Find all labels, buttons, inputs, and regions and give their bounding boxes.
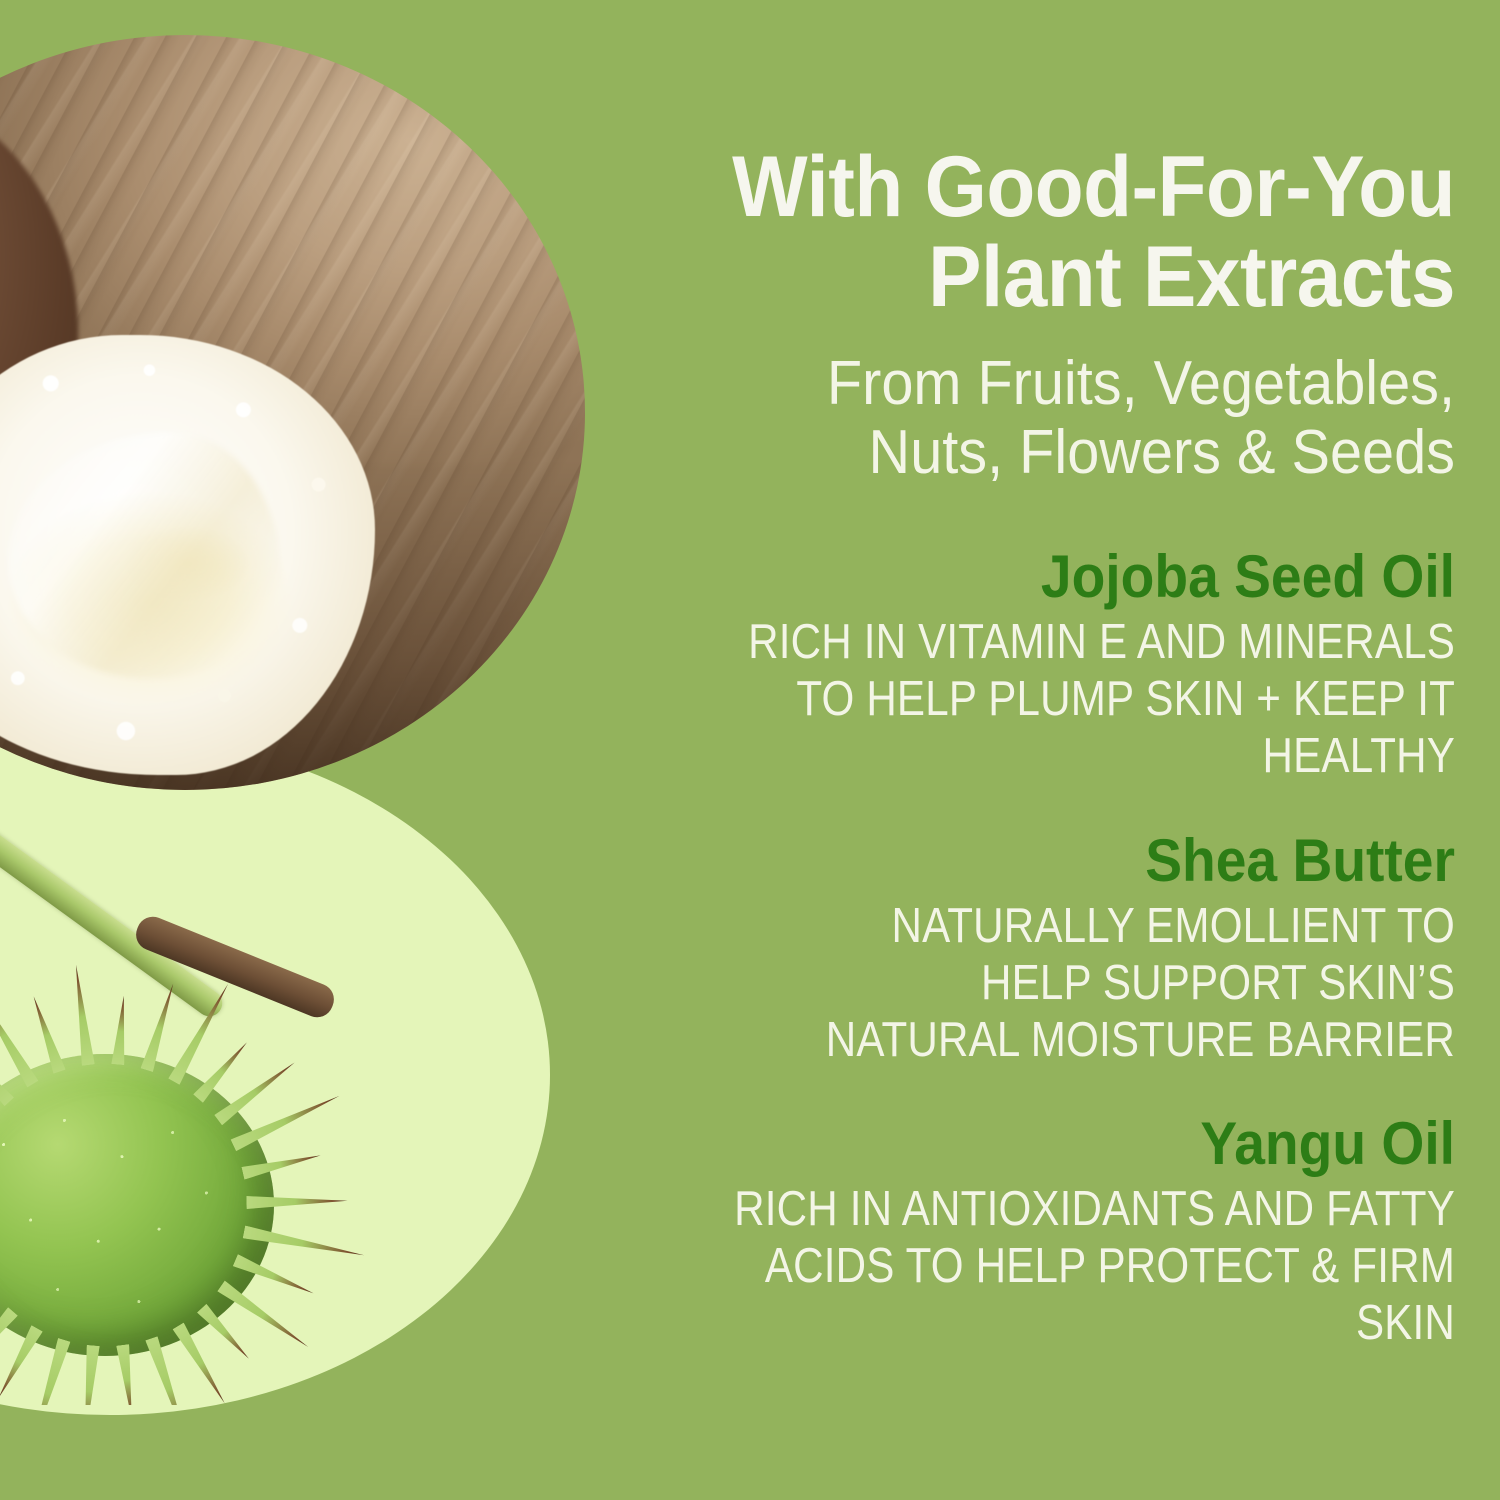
ingredient-name: Shea Butter [636,829,1455,892]
shea-butter-photo-circle [0,35,585,790]
pod-spike [172,1323,230,1405]
pod-spike [246,1194,347,1209]
subtitle-line-2: Nuts, Flowers & Seeds [869,418,1455,487]
pod-spike [27,994,65,1074]
page-title: With Good-For-You Plant Extracts [627,0,1455,323]
ingredient-description-line: TO HELP PLUMP SKIN + KEEP IT HEALTHY [690,671,1455,785]
ingredient-description-line: ACIDS TO HELP PROTECT & FIRM SKIN [690,1238,1455,1352]
ingredient-description-line: NATURAL MOISTURE BARRIER [690,1012,1455,1069]
pod-spike [232,1254,315,1299]
ingredient-description-line: NATURALLY EMOLLIENT TO [690,898,1455,955]
shea-nut-upper [0,63,118,546]
ingredient-item: Yangu Oil RICH IN ANTIOXIDANTS AND FATTY… [565,1112,1455,1351]
pale-green-circle-panel [0,735,550,1415]
pod-spike [168,981,234,1085]
ingredient-description-line: RICH IN VITAMIN E AND MINERALS [690,614,1455,671]
ingredient-item: Shea Butter NATURALLY EMOLLIENT TO HELP … [565,829,1455,1068]
pod-spike [145,1336,194,1405]
pod-spike [214,1057,298,1125]
subtitle: From Fruits, Vegetables, Nuts, Flowers &… [627,349,1455,488]
butter-texture [0,335,375,775]
castor-pod-large [0,995,340,1405]
ingredient-description-line: RICH IN ANTIOXIDANTS AND FATTY [690,1181,1455,1238]
ingredient-description: NATURALLY EMOLLIENT TO HELP SUPPORT SKIN… [690,898,1455,1068]
pod-spike [116,1344,138,1405]
pod-spike [111,995,130,1065]
ingredient-description: RICH IN VITAMIN E AND MINERALS TO HELP P… [690,614,1455,784]
plant-stem-woody [131,912,338,1022]
shea-butter-scoop [0,335,375,775]
pod-spike [230,1090,342,1151]
pod-spike [0,980,38,1087]
ingredient-benefits-graphic: With Good-For-You Plant Extracts From Fr… [0,0,1500,1500]
ingredient-item: Jojoba Seed Oil RICH IN VITAMIN E AND MI… [565,545,1455,784]
subtitle-line-1: From Fruits, Vegetables, [827,349,1455,418]
ingredient-description-line: HELP SUPPORT SKIN’S [690,955,1455,1012]
pod-spike [78,1345,99,1405]
ingredient-list: Jojoba Seed Oil RICH IN VITAMIN E AND MI… [565,545,1455,1351]
plant-stem [0,753,227,1021]
text-column: With Good-For-You Plant Extracts From Fr… [565,0,1455,1352]
ingredient-name: Yangu Oil [636,1112,1455,1175]
wood-shadow [0,460,585,790]
pod-spike [217,1281,312,1353]
ingredient-name: Jojoba Seed Oil [636,545,1455,608]
pod-spike [241,1149,322,1180]
wood-grain-texture [0,35,585,790]
headline-line-2: Plant Extracts [928,229,1455,325]
pod-spike [0,1027,14,1106]
pod-spike [69,964,94,1066]
headline-line-1: With Good-For-You [732,139,1455,235]
pod-spike [196,1304,253,1363]
pod-spike [0,1307,17,1392]
castor-pod-large-core [0,1054,274,1356]
castor-pod-photo [0,745,550,1405]
pod-spike [140,982,179,1072]
ingredient-description: RICH IN ANTIOXIDANTS AND FATTY ACIDS TO … [690,1181,1455,1351]
pod-spike [193,1038,252,1103]
pod-spike [242,1226,365,1262]
pod-spike [0,1325,42,1401]
pod-spike [23,1338,70,1405]
butter-highlight-ridge [8,432,281,678]
